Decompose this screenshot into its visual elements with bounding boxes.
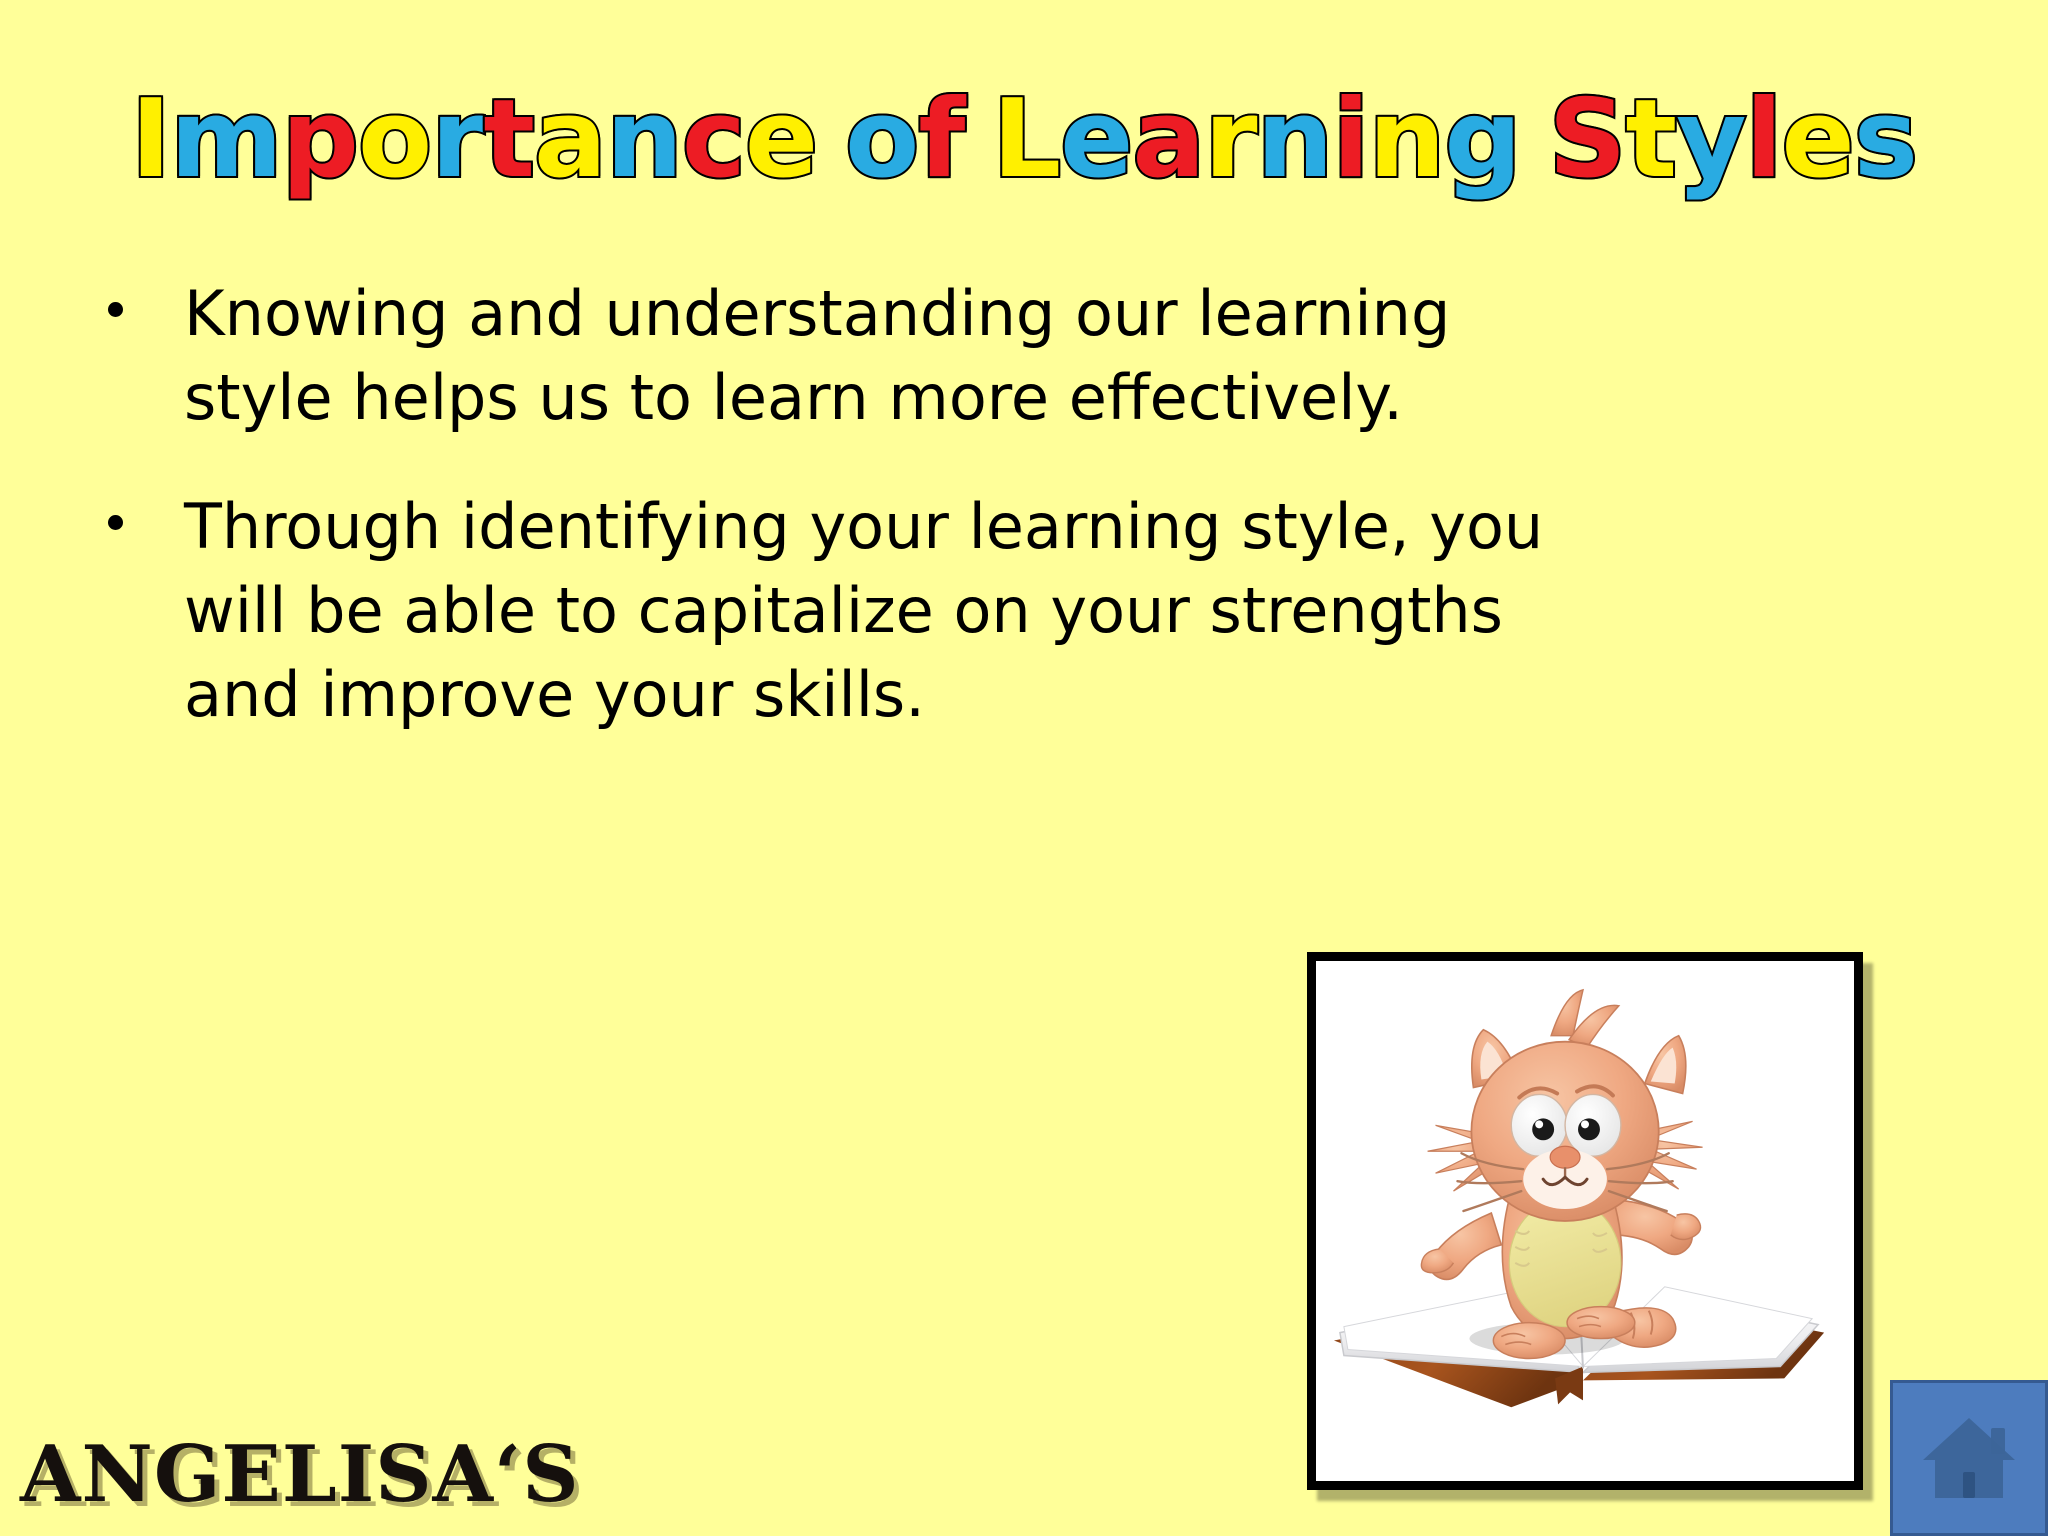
list-item: Knowing and understanding our learning s… [104,272,1614,441]
title-letter-14: L [992,86,1060,194]
title-letter-0: I [131,86,170,194]
title-letter-25: y [1676,86,1745,194]
home-button[interactable] [1890,1380,2048,1536]
title-letter-19: i [1332,86,1368,194]
title-letter-23: S [1549,86,1626,194]
cat-image-frame [1307,952,1863,1490]
title-letter-21: g [1444,86,1520,194]
presenter-logo: ANGELISA‘S [20,1434,580,1516]
title-letter-18: n [1257,86,1333,194]
title-letter-2: p [282,86,358,194]
list-item: Through identifying your learning style,… [104,485,1614,738]
home-icon [1917,1410,2021,1506]
cartoon-cat-on-open-book-image [1316,961,1854,1481]
title-letter-11: o [845,86,918,194]
title-letter-16: a [1132,86,1204,194]
bullet-text: Knowing and understanding our learning s… [184,277,1450,434]
title-letter-6: a [534,86,606,194]
title-letter-9: e [745,86,817,194]
title-letter-20: n [1368,86,1444,194]
title-letter-15: e [1060,86,1132,194]
title-letter-8: c [682,86,745,194]
page-title: ImportanceofLearningStyles [0,86,2048,194]
title-letter-5: t [483,86,534,194]
title-letter-28: s [1854,86,1917,194]
title-letter-7: n [606,86,682,194]
bullet-dot-icon [108,515,123,530]
title-letter-17: r [1204,86,1256,194]
title-letter-1: m [170,86,282,194]
title-letter-3: o [358,86,431,194]
bullet-list: Knowing and understanding our learning s… [104,272,1904,782]
slide-canvas: ImportanceofLearningStyles Knowing and u… [0,0,2048,1536]
title-letter-27: e [1782,86,1854,194]
title-letter-26: l [1746,86,1782,194]
title-letter-24: t [1625,86,1676,194]
title-letter-4: r [431,86,483,194]
title-letter-12: f [918,86,964,194]
bullet-dot-icon [108,302,123,317]
bullet-text: Through identifying your learning style,… [184,490,1543,732]
